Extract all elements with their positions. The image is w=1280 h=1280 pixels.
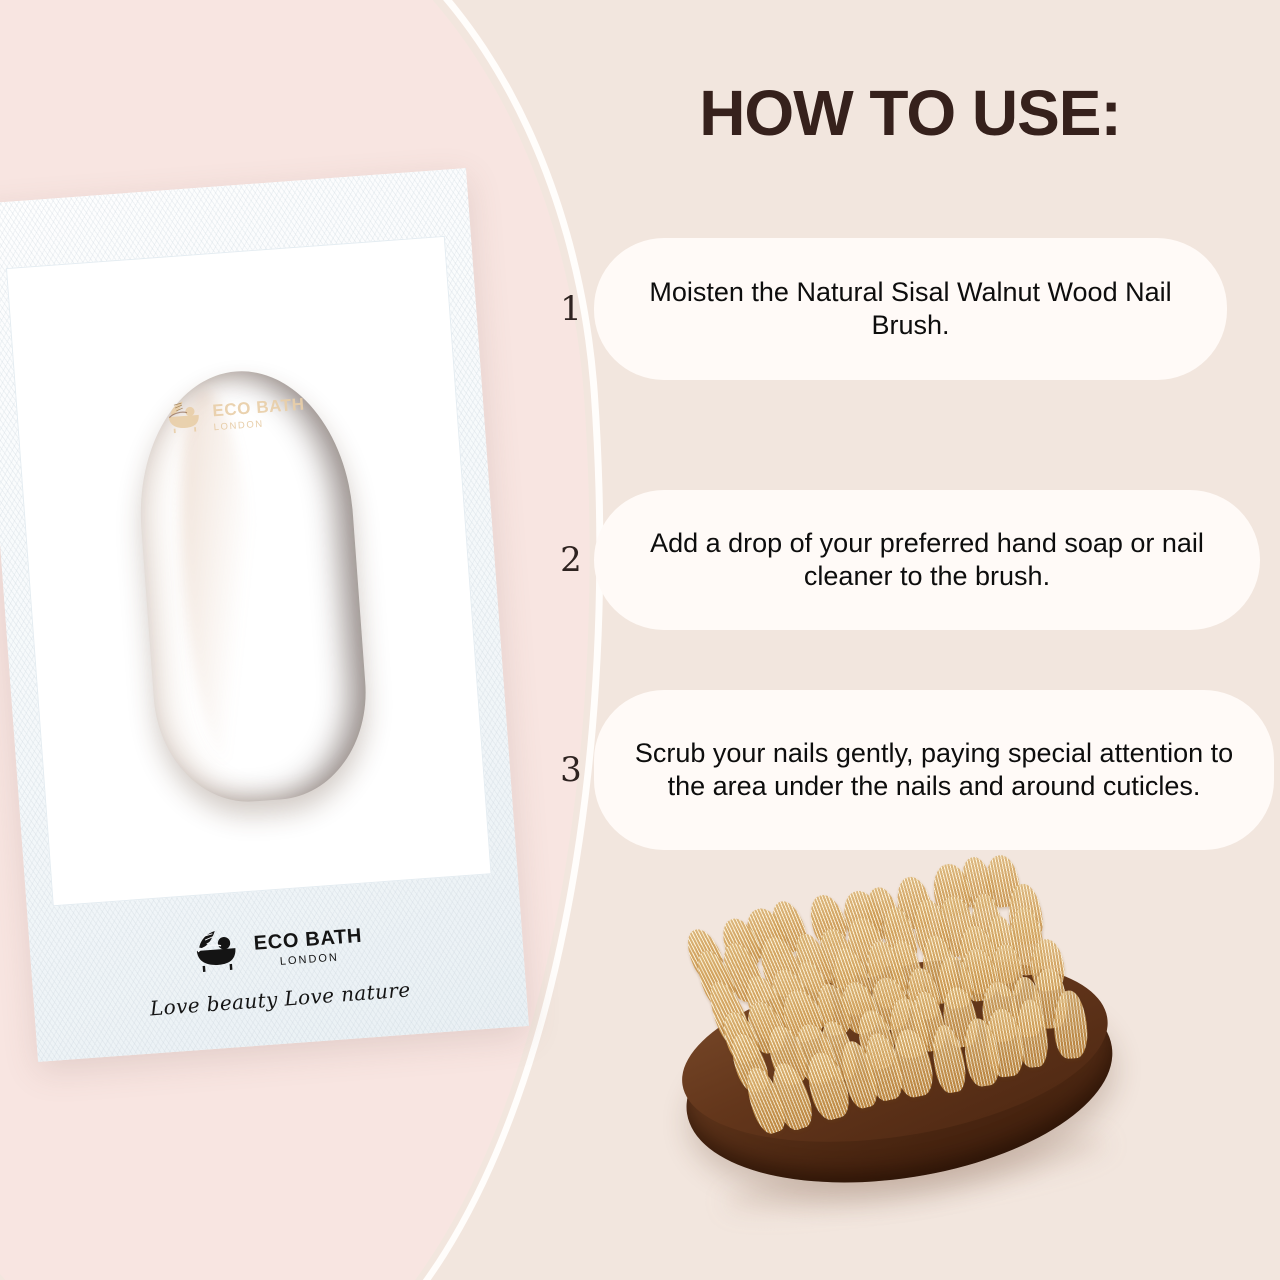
engraved-brand-city: LONDON <box>213 420 264 433</box>
engraved-brand-text: ECO BATH LONDON <box>212 396 306 433</box>
leaf-bathtub-icon <box>189 927 247 982</box>
step-text-3: Scrub your nails gently, paying special … <box>594 737 1274 803</box>
polaroid-card: ECO BATH LONDON <box>0 168 529 1062</box>
handle-sheen <box>170 388 270 771</box>
step-number-2: 2 <box>548 540 594 580</box>
card-brand-name: ECO BATH <box>253 925 363 953</box>
leaf-bathtub-icon <box>163 399 208 441</box>
step-pill-1: Moisten the Natural Sisal Walnut Wood Na… <box>594 238 1227 380</box>
step-pill-3: Scrub your nails gently, paying special … <box>594 690 1274 850</box>
sisal-nail-brush-photo <box>645 829 1149 1275</box>
step-number-1: 1 <box>548 289 594 329</box>
step-text-2: Add a drop of your preferred hand soap o… <box>594 527 1260 593</box>
step-number-3: 3 <box>548 750 594 790</box>
card-brand-text: ECO BATH LONDON <box>253 925 364 969</box>
step-item-1: 1 Moisten the Natural Sisal Walnut Wood … <box>548 238 1227 380</box>
step-item-2: 2 Add a drop of your preferred hand soap… <box>548 490 1260 630</box>
step-pill-2: Add a drop of your preferred hand soap o… <box>594 490 1260 630</box>
polaroid-photo-area: ECO BATH LONDON <box>6 236 492 907</box>
card-brand-city: LONDON <box>280 952 340 967</box>
step-item-3: 3 Scrub your nails gently, paying specia… <box>548 690 1274 850</box>
infographic-canvas: ECO BATH LONDON <box>0 0 1280 1280</box>
step-text-1: Moisten the Natural Sisal Walnut Wood Na… <box>594 276 1227 342</box>
engraved-brand-name: ECO BATH <box>212 396 305 420</box>
page-title: HOW TO USE: <box>640 76 1180 150</box>
